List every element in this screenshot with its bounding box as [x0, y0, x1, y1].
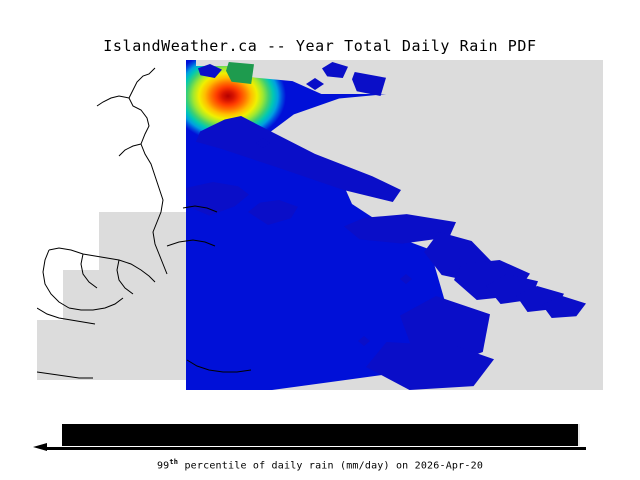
page-title: IslandWeather.ca -- Year Total Daily Rai…	[0, 37, 640, 55]
rain-colorbar[interactable]	[62, 424, 580, 446]
mainland-bottom-strip-2	[155, 390, 603, 405]
figure-canvas: IslandWeather.ca -- Year Total Daily Rai…	[0, 0, 640, 480]
caption-percentile: 99	[157, 460, 169, 471]
rainfall-map[interactable]	[37, 60, 603, 405]
colorbar-arrow-icon	[33, 443, 47, 451]
mainland-notch	[37, 210, 99, 270]
colorbar-underline	[46, 447, 586, 450]
caption-description: percentile of daily rain (mm/day) on 202…	[178, 460, 483, 471]
colorbar-caption: 99th percentile of daily rain (mm/day) o…	[0, 458, 640, 471]
mainland-lower-left	[37, 265, 63, 320]
caption-ordinal-suffix: th	[169, 458, 178, 466]
data-domain	[186, 60, 603, 390]
mainland-landmass	[37, 60, 187, 212]
